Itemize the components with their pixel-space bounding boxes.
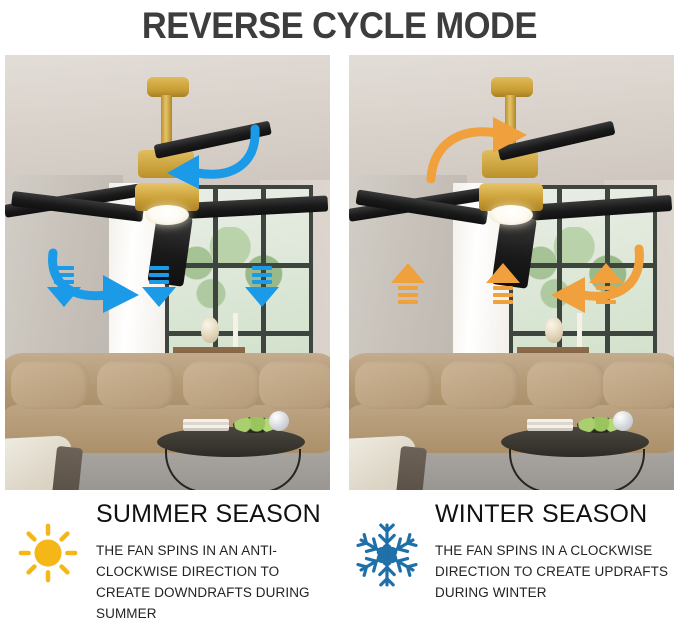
legend-summer: SUMMER SEASON THE FAN SPINS IN AN ANTI- … (0, 492, 339, 630)
airflow-arrow-up (486, 263, 520, 307)
arrow-head (589, 263, 623, 283)
fan-blade (526, 195, 672, 221)
airflow-bars (149, 266, 169, 284)
summer-text-block: SUMMER SEASON THE FAN SPINS IN AN ANTI- … (96, 500, 339, 630)
summer-body-line: SUMMER (96, 604, 331, 625)
fan-light-kit (145, 205, 189, 225)
winter-body: THE FAN SPINS IN A CLOCKWISE DIRECTION T… (435, 541, 670, 604)
winter-body-line: DIRECTION TO CREATE UPDRAFTS (435, 562, 670, 583)
airflow-bars (252, 266, 272, 284)
winter-body-line: DURING WINTER (435, 583, 670, 604)
fan-blade (183, 195, 329, 219)
airflow-arrow-down (47, 263, 81, 307)
airflow-arrow-up (589, 263, 623, 307)
arrow-head (142, 287, 176, 307)
fan-ceiling-mount (491, 77, 533, 97)
airflow-arrow-up (391, 263, 425, 307)
airflow-bars (596, 286, 616, 304)
summer-title: SUMMER SEASON (96, 500, 331, 529)
arrow-head (47, 287, 81, 307)
summer-body-line: CLOCKWISE DIRECTION TO (96, 562, 331, 583)
page-header: REVERSE CYCLE MODE (0, 0, 679, 52)
airflow-bars (398, 286, 418, 304)
arrow-head (486, 263, 520, 283)
summer-body-line: CREATE DOWNDRAFTS DURING (96, 583, 331, 604)
sun-icon (17, 522, 79, 584)
snowflake-icon (354, 522, 420, 588)
summer-body: THE FAN SPINS IN AN ANTI- CLOCKWISE DIRE… (96, 541, 331, 625)
page-title: REVERSE CYCLE MODE (142, 5, 537, 47)
arrow-head (245, 287, 279, 307)
fan-light-kit (489, 205, 533, 225)
arrow-head (391, 263, 425, 283)
snowflake-icon-wrap (339, 500, 435, 630)
airflow-arrow-down (142, 263, 176, 307)
winter-text-block: WINTER SEASON THE FAN SPINS IN A CLOCKWI… (435, 500, 678, 630)
winter-body-line: THE FAN SPINS IN A CLOCKWISE (435, 541, 670, 562)
fan-ceiling-mount (147, 77, 189, 97)
summer-photo-panel (5, 55, 330, 490)
rotation-arrow-clockwise (421, 117, 531, 197)
airflow-arrow-down (245, 263, 279, 307)
winter-photo-panel (349, 55, 674, 490)
winter-title: WINTER SEASON (435, 500, 670, 529)
legend-winter: WINTER SEASON THE FAN SPINS IN A CLOCKWI… (339, 492, 678, 630)
airflow-bars (493, 286, 513, 304)
rotation-arrow-anticlockwise (153, 117, 263, 197)
sun-icon-wrap (0, 500, 96, 630)
airflow-bars (54, 266, 74, 284)
summer-body-line: THE FAN SPINS IN AN ANTI- (96, 541, 331, 562)
legend-row: SUMMER SEASON THE FAN SPINS IN AN ANTI- … (0, 492, 679, 630)
comparison-photos (0, 55, 679, 490)
